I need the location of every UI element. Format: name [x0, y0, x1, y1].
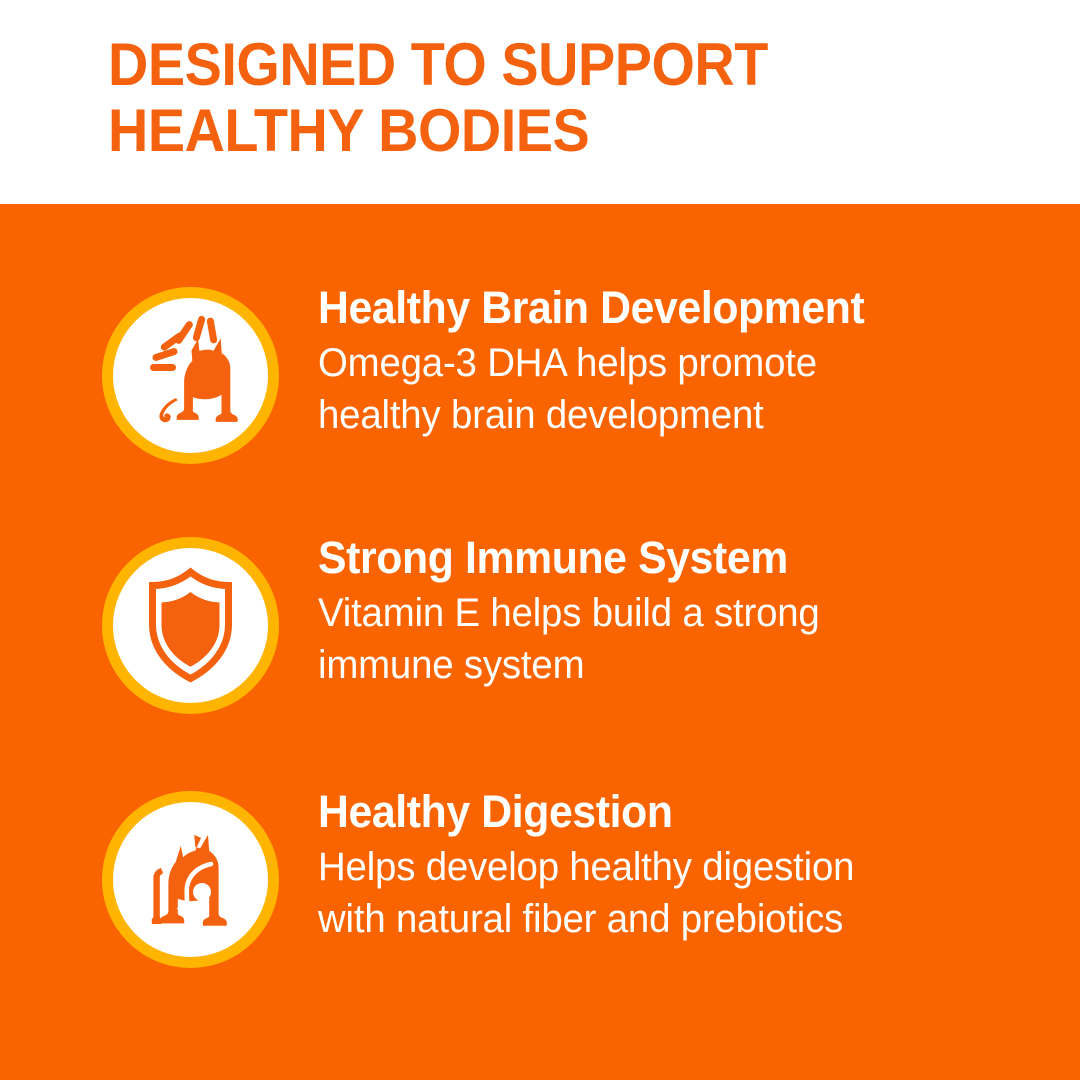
feature-text: Strong Immune System Vitamin E helps bui… — [318, 533, 1058, 691]
feature-title: Strong Immune System — [318, 533, 1021, 583]
feature-row: Healthy Brain Development Omega-3 DHA he… — [0, 283, 1080, 533]
feature-description: Omega-3 DHA helps promote healthy brain … — [318, 337, 1028, 441]
page-title: DESIGNED TO SUPPORT HEALTHY BODIES — [108, 32, 926, 164]
feature-text: Healthy Digestion Helps develop healthy … — [318, 787, 1058, 945]
feature-text: Healthy Brain Development Omega-3 DHA he… — [318, 283, 1058, 441]
feature-row: Healthy Digestion Helps develop healthy … — [0, 787, 1080, 1037]
feature-title: Healthy Digestion — [318, 787, 1021, 837]
feature-description: Helps develop healthy digestion with nat… — [318, 841, 1028, 945]
infographic-page: DESIGNED TO SUPPORT HEALTHY BODIES — [0, 0, 1080, 1080]
shield-icon — [113, 548, 268, 703]
feature-description: Vitamin E helps build a strong immune sy… — [318, 587, 1028, 691]
feature-row: Strong Immune System Vitamin E helps bui… — [0, 533, 1080, 783]
cat-alert-rays-icon — [113, 298, 268, 453]
cat-digestion-arrow-icon — [113, 802, 268, 957]
header-band: DESIGNED TO SUPPORT HEALTHY BODIES — [0, 0, 1080, 204]
feature-title: Healthy Brain Development — [318, 283, 1021, 333]
feature-icon-badge — [102, 537, 279, 714]
features-panel: Healthy Brain Development Omega-3 DHA he… — [0, 204, 1080, 1080]
feature-icon-badge — [102, 791, 279, 968]
feature-icon-badge — [102, 287, 279, 464]
